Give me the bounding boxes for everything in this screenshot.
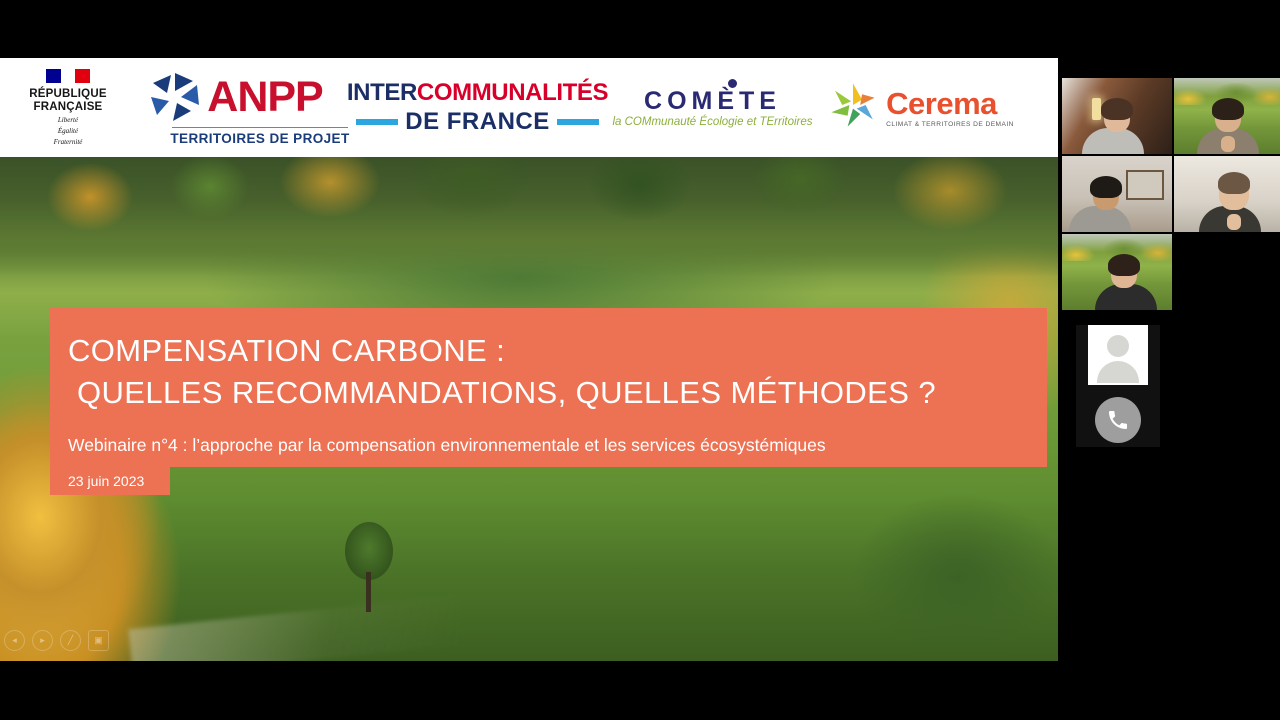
inter-word-c: DE FRANCE [405, 108, 550, 136]
rf-motto-2: Égalité [58, 127, 78, 135]
inter-word-a: INTER [347, 79, 417, 106]
participant-tile-1[interactable] [1062, 78, 1172, 154]
comete-wordmark: COMÈTE [644, 88, 781, 115]
page-title: COMPENSATION CARBONE : QUELLES RECOMMAND… [50, 308, 1047, 414]
pen-icon[interactable]: ╱ [60, 630, 81, 651]
cerema-wordmark: Cerema [886, 88, 1014, 120]
anpp-tagline: TERRITOIRES DE PROJET [170, 131, 349, 146]
anpp-divider [172, 127, 348, 129]
title-line-2: QUELLES RECOMMANDATIONS, QUELLES MÉTHODE… [68, 372, 1047, 414]
republique-francaise-logo: RÉPUBLIQUE FRANÇAISE Liberté Égalité Fra… [0, 58, 120, 157]
play-icon[interactable]: ▸ [32, 630, 53, 651]
rf-motto-1: Liberté [58, 116, 78, 124]
intercommunalites-logo: INTERCOMMUNALITÉS DE FRANCE [350, 58, 605, 157]
mute-icon[interactable]: ◂ [4, 630, 25, 651]
anpp-pinwheel-icon [147, 69, 203, 125]
anpp-logo: ANPP TERRITOIRES DE PROJET [120, 58, 350, 157]
slide-title-card: COMPENSATION CARBONE : QUELLES RECOMMAND… [50, 308, 1047, 467]
anpp-wordmark: ANPP [207, 75, 322, 119]
participant-grid [1062, 78, 1280, 278]
avatar [1088, 325, 1148, 385]
cerema-logo: Cerema CLIMAT & TERRITOIRES DE DEMAIN [820, 58, 1020, 157]
audio-only-participant[interactable] [1076, 325, 1160, 447]
participant-tile-4[interactable] [1174, 156, 1280, 232]
comete-logo: COMÈTE la COMmunauté Écologie et TErrito… [605, 58, 820, 157]
inter-word-b: COMMUNALITÉS [417, 79, 608, 106]
rf-motto-3: Fraternité [54, 138, 83, 146]
participant-tile-2[interactable] [1174, 78, 1280, 154]
phone-icon [1095, 397, 1141, 443]
participant-tile-3[interactable] [1062, 156, 1172, 232]
french-flag-icon [46, 69, 90, 83]
rf-line1: RÉPUBLIQUE [29, 88, 106, 101]
slide-logo-band: RÉPUBLIQUE FRANÇAISE Liberté Égalité Fra… [0, 58, 1058, 157]
rf-line2: FRANÇAISE [34, 101, 103, 114]
inter-bar-right [557, 119, 599, 125]
fullscreen-icon[interactable]: ▣ [88, 630, 109, 651]
slide-date: 23 juin 2023 [50, 467, 170, 495]
meeting-screen: RÉPUBLIQUE FRANÇAISE Liberté Égalité Fra… [0, 0, 1280, 720]
cerema-tagline: CLIMAT & TERRITOIRES DE DEMAIN [886, 121, 1014, 128]
title-line-1: COMPENSATION CARBONE : [68, 333, 505, 368]
cerema-star-icon [826, 78, 880, 137]
participant-tile-5[interactable] [1062, 234, 1172, 310]
media-controls[interactable]: ◂ ▸ ╱ ▣ [4, 630, 109, 651]
shared-slide[interactable]: RÉPUBLIQUE FRANÇAISE Liberté Égalité Fra… [0, 58, 1058, 661]
inter-bar-left [356, 119, 398, 125]
comete-tagline: la COMmunauté Écologie et TErritoires [612, 116, 812, 128]
lone-tree [345, 522, 393, 612]
slide-subtitle: Webinaire n°4 : l’approche par la compen… [68, 435, 826, 456]
comete-dot-icon [728, 79, 737, 88]
